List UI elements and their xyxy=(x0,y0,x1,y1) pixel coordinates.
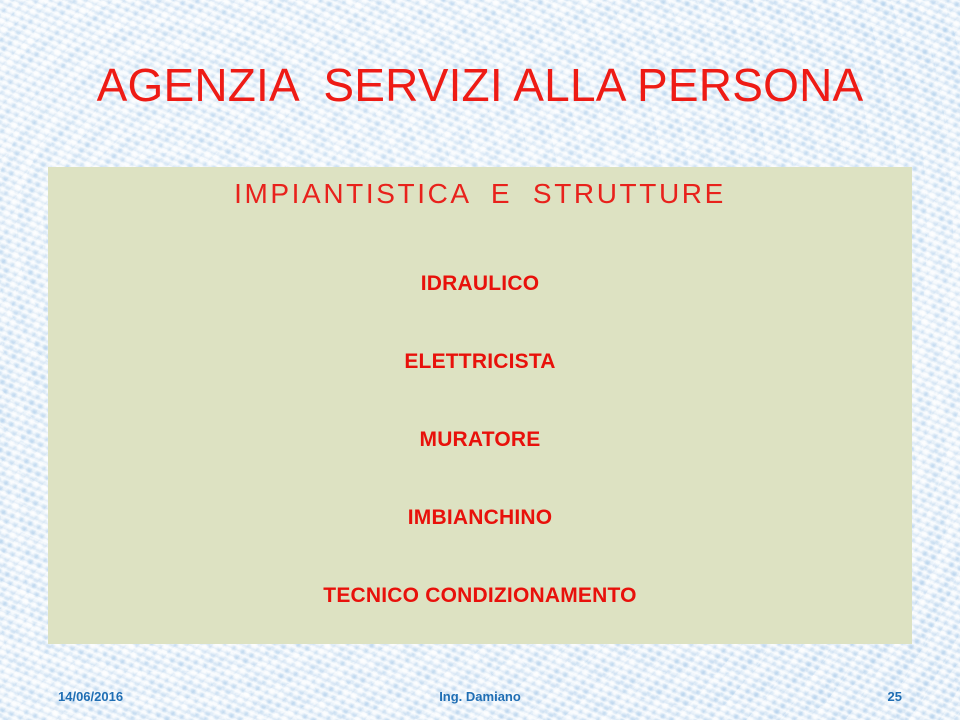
slide-footer: 14/06/2016 Ing. Damiano 25 xyxy=(0,686,960,708)
list-item: IDRAULICO xyxy=(48,245,912,323)
list-item: ELETTRICISTA xyxy=(48,323,912,401)
list-item: TECNICO CONDIZIONAMENTO xyxy=(48,557,912,635)
list-item: IMBIANCHINO xyxy=(48,479,912,557)
slide-canvas: AGENZIA SERVIZI ALLA PERSONA IMPIANTISTI… xyxy=(0,0,960,720)
panel-heading: IMPIANTISTICA E STRUTTURE xyxy=(48,177,912,211)
content-panel: IMPIANTISTICA E STRUTTURE IDRAULICO ELET… xyxy=(48,167,912,644)
list-item: MURATORE xyxy=(48,401,912,479)
job-list: IDRAULICO ELETTRICISTA MURATORE IMBIANCH… xyxy=(48,245,912,635)
slide-number: 25 xyxy=(888,686,902,708)
page-title: AGENZIA SERVIZI ALLA PERSONA xyxy=(0,58,960,112)
footer-author: Ing. Damiano xyxy=(0,686,960,708)
